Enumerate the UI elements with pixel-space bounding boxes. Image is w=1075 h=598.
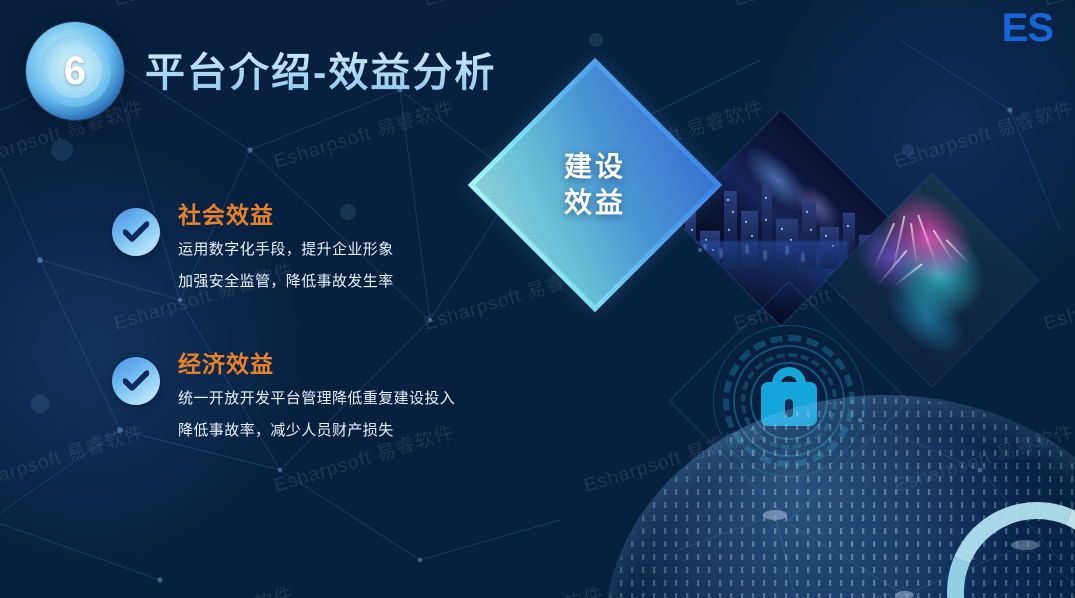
bullet-text-social: 社会效益 运用数字化手段，提升企业形象 加强安全监管，降低事故发生率 (178, 203, 394, 289)
bullet-heading: 经济效益 (178, 352, 455, 377)
light-streaks (857, 205, 1007, 355)
slide-number: 6 (64, 51, 86, 91)
bullet-line: 统一开放开发平台管理降低重复建设投入 (178, 391, 455, 406)
bullet-line: 运用数字化手段，提升企业形象 (178, 242, 394, 257)
page-title: 平台介绍-效益分析 (145, 40, 496, 98)
bullet-block-social: 社会效益 运用数字化手段，提升企业形象 加强安全监管，降低事故发生率 (112, 203, 394, 306)
slide-number-badge: 6 (26, 22, 124, 120)
bullet-heading: 社会效益 (178, 203, 394, 228)
slide-root: 建设 效益 6 平台介绍-效益分析 ES 社会效益 运用数字化手段，提升企业形象… (0, 0, 1075, 598)
check-circle-icon (112, 357, 160, 405)
bullet-line: 加强安全监管，降低事故发生率 (178, 274, 394, 289)
company-logo: ES (1002, 8, 1053, 48)
center-label-line-1: 建设 (564, 149, 626, 185)
bullet-line: 降低事故率，减少人员财产损失 (178, 423, 455, 438)
check-circle-icon (112, 208, 160, 256)
bullet-text-economic: 经济效益 统一开放开发平台管理降低重复建设投入 降低事故率，减少人员财产损失 (178, 352, 455, 438)
center-label-line-2: 效益 (564, 185, 626, 221)
slide-header: 6 平台介绍-效益分析 ES (0, 0, 1075, 140)
center-label-text: 建设 效益 (564, 149, 626, 221)
bullet-block-economic: 经济效益 统一开放开发平台管理降低重复建设投入 降低事故率，减少人员财产损失 (112, 352, 455, 455)
